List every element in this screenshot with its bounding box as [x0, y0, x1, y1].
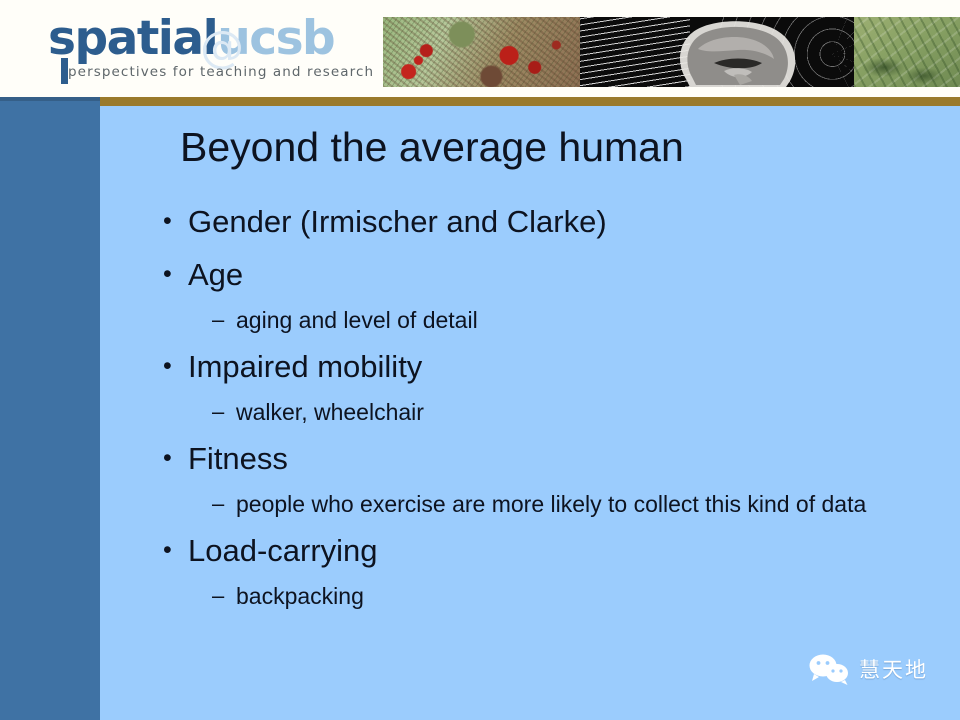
sub-list-item-label: backpacking — [236, 577, 946, 615]
list-item-label: Fitness — [188, 433, 952, 484]
sub-list-item-label: walker, wheelchair — [236, 393, 946, 431]
list-item: • Impaired mobility — [152, 341, 952, 392]
bullet-marker: • — [152, 433, 188, 484]
spatial-ucsb-logo: spatialucsb @ perspectives for teaching … — [48, 14, 358, 82]
slide-canvas: spatialucsb @ perspectives for teaching … — [0, 0, 960, 720]
gold-divider-rule — [100, 97, 960, 106]
sub-list-item: – people who exercise are more likely to… — [152, 485, 952, 523]
list-item: • Gender (Irmischer and Clarke) — [152, 196, 952, 247]
slide-header: spatialucsb @ perspectives for teaching … — [0, 0, 960, 97]
logo-wordmark: spatialucsb — [48, 14, 334, 64]
list-item-label: Load-carrying — [188, 525, 952, 576]
terrain-hillshade — [854, 17, 960, 87]
list-item: • Fitness — [152, 433, 952, 484]
list-item-label: Age — [188, 249, 952, 300]
wechat-icon — [808, 653, 850, 685]
dash-marker: – — [152, 393, 236, 431]
dash-marker: – — [152, 301, 236, 339]
dash-marker: – — [152, 577, 236, 615]
page-title: Beyond the average human — [180, 124, 880, 171]
logo-tagline: perspectives for teaching and research — [68, 64, 374, 80]
watermark-label: 慧天地 — [859, 654, 928, 684]
list-item-label: Gender (Irmischer and Clarke) — [188, 196, 952, 247]
header-photo-strip — [383, 17, 960, 87]
sidebar-top-edge — [0, 97, 100, 101]
bullet-marker: • — [152, 249, 188, 300]
sub-list-item-label: people who exercise are more likely to c… — [236, 485, 946, 523]
sub-list-item: – aging and level of detail — [152, 301, 952, 339]
list-item: • Age — [152, 249, 952, 300]
logo-word-spatial: spatial — [48, 11, 217, 66]
list-item-label: Impaired mobility — [188, 341, 952, 392]
brain-mri-scan — [580, 17, 854, 87]
sub-list-item: – walker, wheelchair — [152, 393, 952, 431]
slide-content-area: Beyond the average human • Gender (Irmis… — [100, 106, 960, 720]
list-item: • Load-carrying — [152, 525, 952, 576]
watermark: 慧天地 — [808, 648, 948, 690]
bullet-marker: • — [152, 196, 188, 247]
brain-silhouette — [674, 19, 814, 87]
dash-marker: – — [152, 485, 236, 523]
bullet-marker: • — [152, 525, 188, 576]
bullet-list: • Gender (Irmischer and Clarke) • Age – … — [152, 194, 952, 615]
logo-accent-bar — [61, 58, 68, 84]
left-sidebar-band — [0, 97, 100, 720]
sub-list-item-label: aging and level of detail — [236, 301, 946, 339]
satellite-false-color-imagery — [383, 17, 580, 87]
bullet-marker: • — [152, 341, 188, 392]
sub-list-item: – backpacking — [152, 577, 952, 615]
